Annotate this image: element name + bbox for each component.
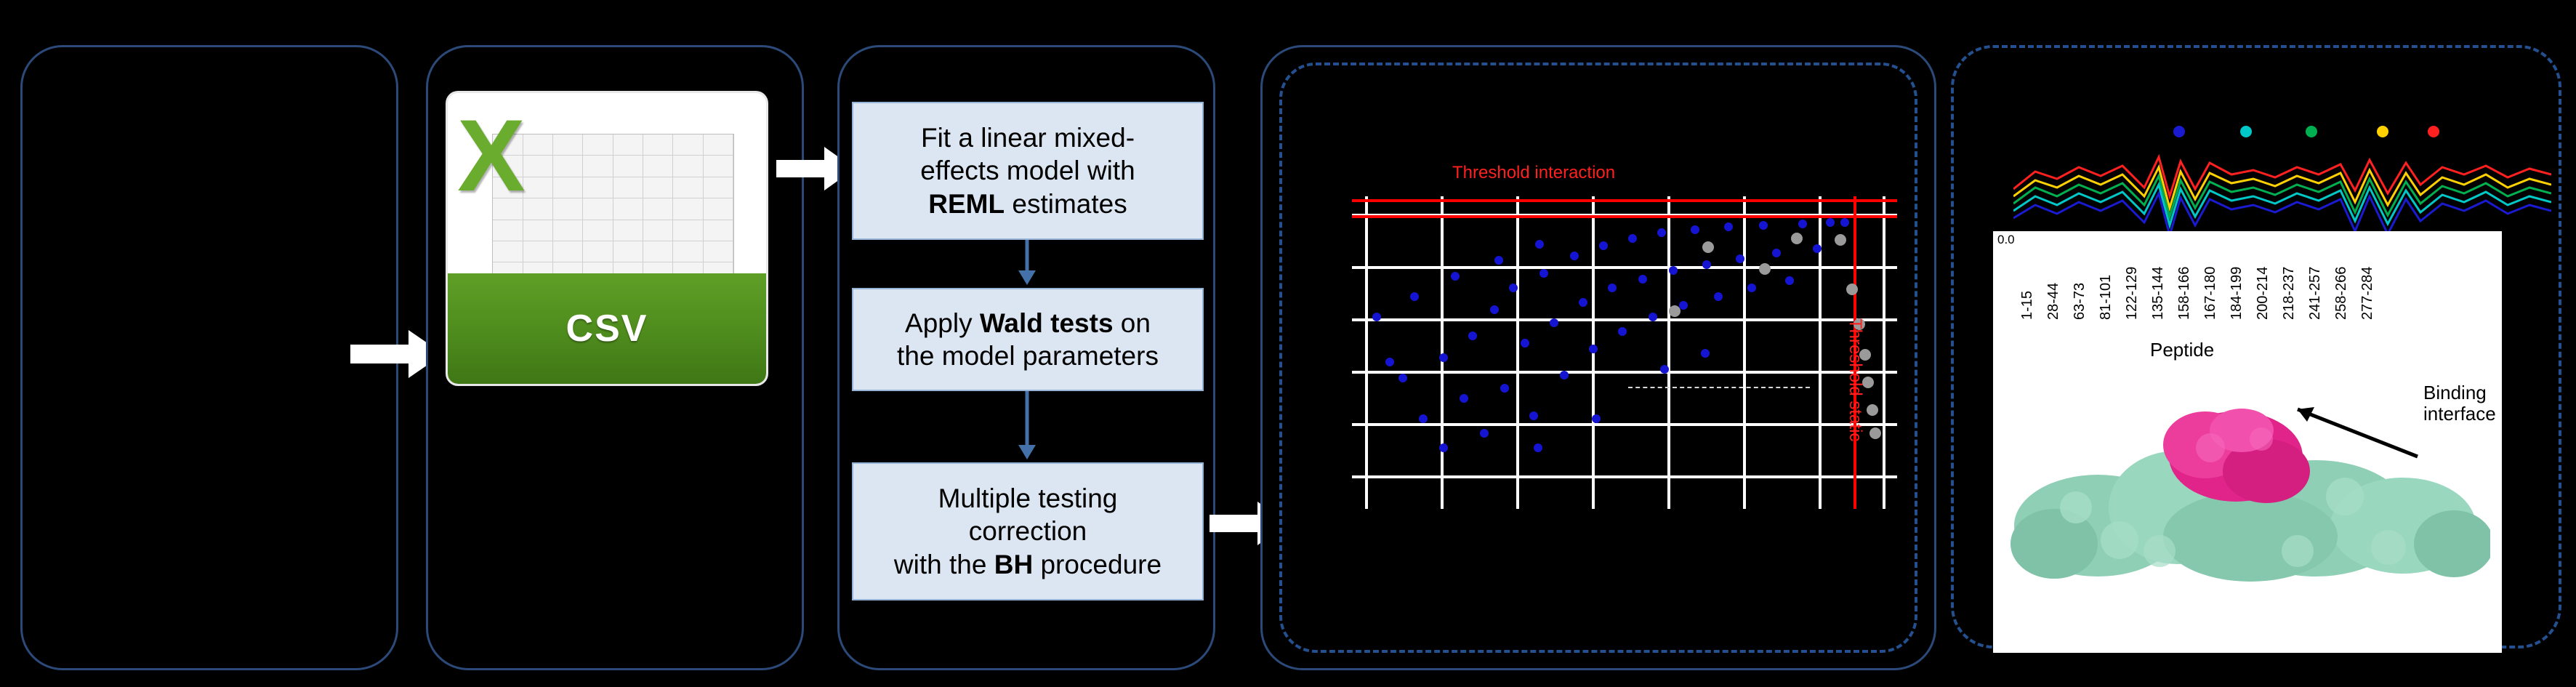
data-point-blue [1747, 284, 1756, 292]
data-point-blue [1534, 443, 1542, 452]
arrow-wald-to-bh [1016, 391, 1038, 461]
data-point-blue [1724, 222, 1733, 231]
data-point-blue [1560, 371, 1569, 379]
peptide-tick-label: 135-144 [2150, 267, 2167, 320]
threshold-interaction-line [1352, 199, 1897, 202]
step-wald-line1-post: on [1114, 308, 1151, 338]
grid-line-v [1743, 196, 1746, 509]
input-panel [20, 45, 398, 670]
data-point-blue [1714, 292, 1723, 301]
data-point-blue [1669, 266, 1678, 275]
peptide-tick-label: 63-73 [2072, 283, 2088, 320]
peptide-tick-label: 218-237 [2281, 267, 2298, 320]
grid-line-h [1352, 266, 1897, 269]
data-point-gray [1846, 284, 1858, 295]
legend-dot-2 [2240, 126, 2252, 137]
grid-line-v [1667, 196, 1670, 509]
data-point-blue [1439, 443, 1448, 452]
data-point-blue [1550, 318, 1558, 327]
data-point-blue [1494, 256, 1503, 265]
binding-interface-line1: Binding [2423, 382, 2487, 403]
step-model-line2: effects model with [920, 156, 1135, 185]
peptide-tick-label: 158-166 [2176, 267, 2193, 320]
data-point-blue [1772, 249, 1781, 257]
csv-label: CSV [566, 307, 648, 350]
data-point-blue [1509, 284, 1518, 292]
grid-line-h [1352, 318, 1897, 321]
data-point-blue [1419, 414, 1428, 423]
data-point-blue [1702, 260, 1711, 269]
data-point-blue [1480, 429, 1489, 438]
y-axis-tick-label: 0.0 [1997, 233, 2015, 247]
data-point-gray [1869, 427, 1881, 439]
binding-interface-line2: interface [2423, 403, 2496, 425]
peptide-tick-label: 277-284 [2359, 267, 2376, 320]
legend-dot-5 [2428, 126, 2439, 137]
data-point-gray [1669, 305, 1681, 317]
data-point-blue [1785, 276, 1794, 285]
data-point-blue [1398, 374, 1407, 382]
data-point-gray [1759, 263, 1771, 275]
data-point-blue [1521, 339, 1529, 347]
step-wald-line1-pre: Apply [905, 308, 980, 338]
protein-structure-image [2011, 369, 2490, 587]
data-point-blue [1539, 269, 1548, 278]
data-point-blue [1592, 414, 1601, 423]
data-point-blue [1736, 254, 1744, 263]
diagram-canvas: X CSV Fit a linear mixed- effects model … [0, 0, 2576, 687]
threshold-static-label: Threshold static [1845, 318, 1865, 441]
peptide-tick-label: 258-266 [2333, 267, 2350, 320]
arrow-model-to-wald [1016, 240, 1038, 286]
step-wald-box: Apply Wald tests on the model parameters [852, 288, 1204, 391]
grid-line-h [1352, 475, 1897, 478]
grid-line-h [1352, 371, 1897, 374]
legend-dot-3 [2306, 126, 2317, 137]
peptide-tick-label: 167-180 [2202, 267, 2219, 320]
threshold-interaction-label: Threshold interaction [1452, 163, 1615, 183]
scatter-plot [1352, 196, 1897, 509]
data-point-blue [1372, 313, 1381, 321]
step-wald-bold: Wald tests [980, 308, 1114, 338]
step-model-bold: REML [928, 189, 1005, 219]
data-point-blue [1579, 298, 1587, 307]
data-point-gray [1791, 233, 1803, 244]
structure-figure: 0.0 1-15 28-44 63-73 81-101 122-129 135-… [1993, 231, 2502, 653]
data-point-gray [1835, 234, 1846, 246]
data-point-blue [1660, 365, 1669, 374]
grid-line-v [1365, 196, 1368, 509]
step-model-line3-post: estimates [1005, 189, 1127, 219]
data-point-blue [1679, 301, 1688, 310]
data-point-blue [1608, 284, 1617, 292]
data-point-blue [1599, 241, 1608, 250]
grid-line-v [1441, 196, 1444, 509]
data-point-gray [1867, 404, 1878, 416]
csv-banner: CSV [448, 273, 766, 384]
data-point-blue [1468, 332, 1477, 340]
step-model-line1: Fit a linear mixed- [921, 123, 1135, 153]
step-bh-line3-pre: with the [894, 550, 994, 579]
binding-interface-annotation: Binding interface [2423, 382, 2496, 425]
data-point-blue [1759, 221, 1768, 230]
data-point-blue [1570, 252, 1579, 260]
peptide-tick-label: 184-199 [2229, 267, 2245, 320]
data-point-blue [1826, 218, 1835, 227]
data-point-blue [1628, 234, 1637, 243]
step-bh-line1: Multiple testing [938, 483, 1118, 513]
data-point-blue [1529, 411, 1538, 420]
data-point-blue [1840, 218, 1849, 227]
threshold-interaction-line-2 [1352, 215, 1897, 218]
data-point-blue [1460, 394, 1468, 403]
data-point-blue [1589, 345, 1598, 353]
grid-line-h [1352, 423, 1897, 426]
data-point-blue [1439, 353, 1448, 362]
data-point-blue [1649, 313, 1657, 321]
data-point-gray [1702, 241, 1714, 253]
legend-dot-1 [2173, 126, 2185, 137]
step-bh-line2: correction [969, 516, 1087, 546]
data-point-blue [1701, 349, 1710, 358]
data-point-blue [1451, 272, 1460, 281]
step-bh-box: Multiple testing correction with the BH … [852, 462, 1204, 600]
csv-file-icon: X CSV [448, 93, 766, 384]
data-point-blue [1618, 327, 1627, 336]
dashed-reference-line [1628, 387, 1810, 388]
data-point-blue [1798, 220, 1807, 228]
x-axis-title: Peptide [2150, 339, 2214, 361]
peptide-tick-label: 122-129 [2124, 267, 2141, 320]
step-bh-line3-post: procedure [1033, 550, 1162, 579]
csv-x-glyph: X [457, 105, 597, 268]
peptide-tick-label: 200-214 [2255, 267, 2271, 320]
data-point-blue [1385, 358, 1394, 366]
step-bh-bold: BH [994, 550, 1033, 579]
data-point-blue [1535, 240, 1544, 249]
grid-line-v [1516, 196, 1519, 509]
data-point-blue [1500, 384, 1509, 393]
data-point-blue [1691, 225, 1699, 234]
peptide-tick-label: 28-44 [2045, 283, 2062, 320]
data-point-blue [1490, 305, 1499, 314]
peptide-tick-label: 81-101 [2098, 275, 2114, 320]
data-point-blue [1638, 275, 1647, 284]
grid-line-v [1819, 196, 1822, 509]
peptide-tick-label: 1-15 [2019, 291, 2036, 320]
data-point-blue [1813, 244, 1822, 253]
grid-line-v [1883, 196, 1885, 509]
legend-dot-4 [2377, 126, 2388, 137]
step-model-box: Fit a linear mixed- effects model with R… [852, 102, 1204, 240]
peptide-tick-label: 241-257 [2307, 267, 2324, 320]
step-wald-line2: the model parameters [897, 341, 1159, 371]
line-chart-svg [2013, 145, 2551, 240]
peptide-line-chart [2013, 145, 2551, 240]
data-point-blue [1657, 228, 1666, 237]
data-point-blue [1410, 292, 1419, 301]
